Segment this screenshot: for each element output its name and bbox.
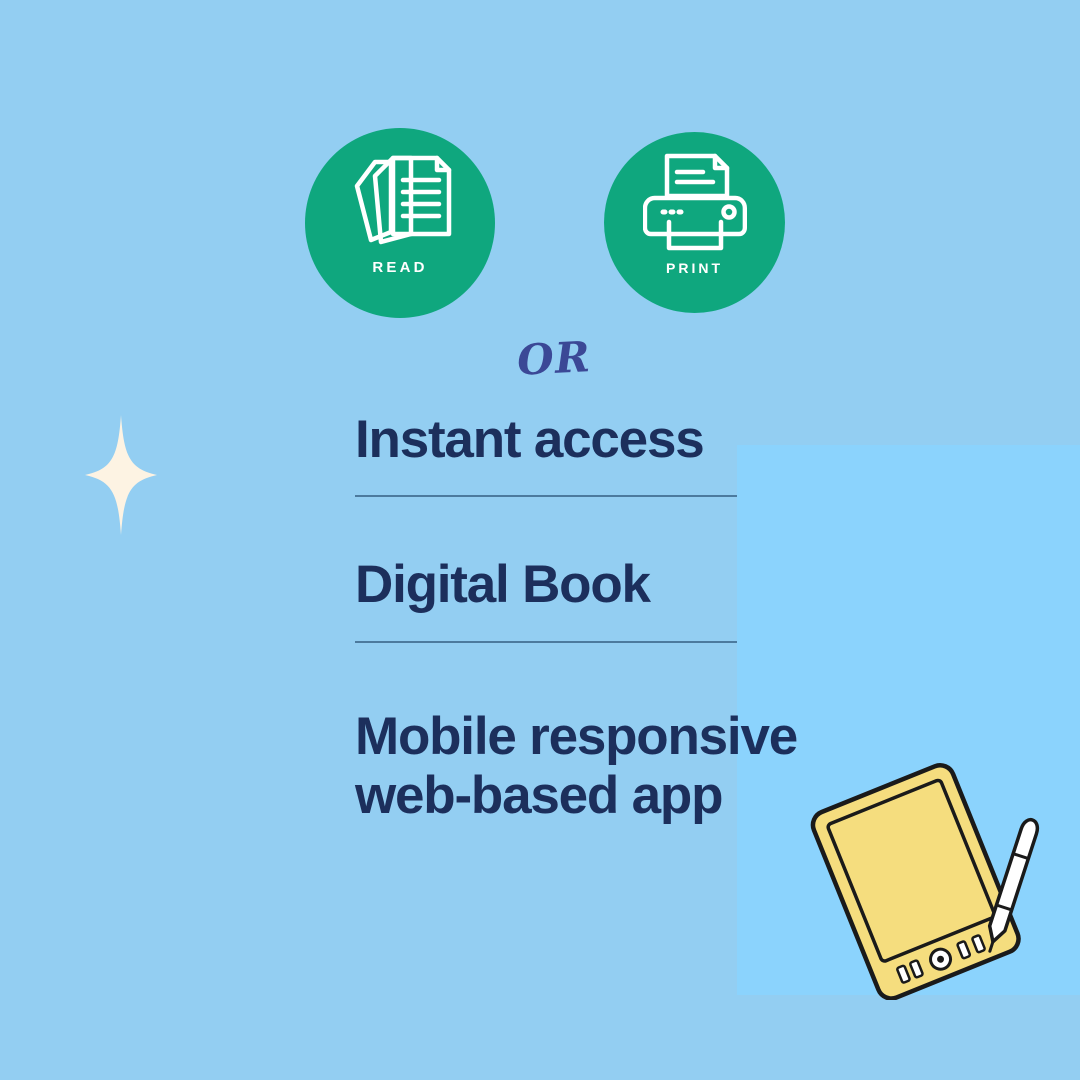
feature-list: Instant access Digital Book Mobile respo…	[355, 410, 875, 825]
documents-stack-icon	[345, 150, 455, 250]
option-read-label: READ	[372, 259, 427, 276]
feature-title: Digital Book	[355, 555, 875, 614]
feature-item-digital-book: Digital Book	[355, 555, 875, 642]
options-row: READ PRINT OR	[0, 128, 1080, 323]
feature-title: Instant access	[355, 410, 875, 469]
tablet-with-stylus-icon	[800, 760, 1050, 1000]
feature-divider	[355, 495, 737, 497]
option-print[interactable]: PRINT	[604, 132, 785, 313]
printer-icon	[643, 152, 747, 252]
feature-item-mobile-responsive: Mobile responsive web-based app	[355, 707, 875, 826]
promo-graphic-canvas: READ PRINT OR	[0, 0, 1080, 1080]
feature-item-instant-access: Instant access	[355, 410, 875, 497]
feature-title: Mobile responsive web-based app	[355, 707, 875, 826]
sparkle-icon	[85, 415, 157, 535]
option-read[interactable]: READ	[305, 128, 495, 318]
or-connector-label: OR	[509, 332, 599, 386]
option-print-label: PRINT	[666, 260, 723, 276]
feature-divider	[355, 641, 737, 643]
